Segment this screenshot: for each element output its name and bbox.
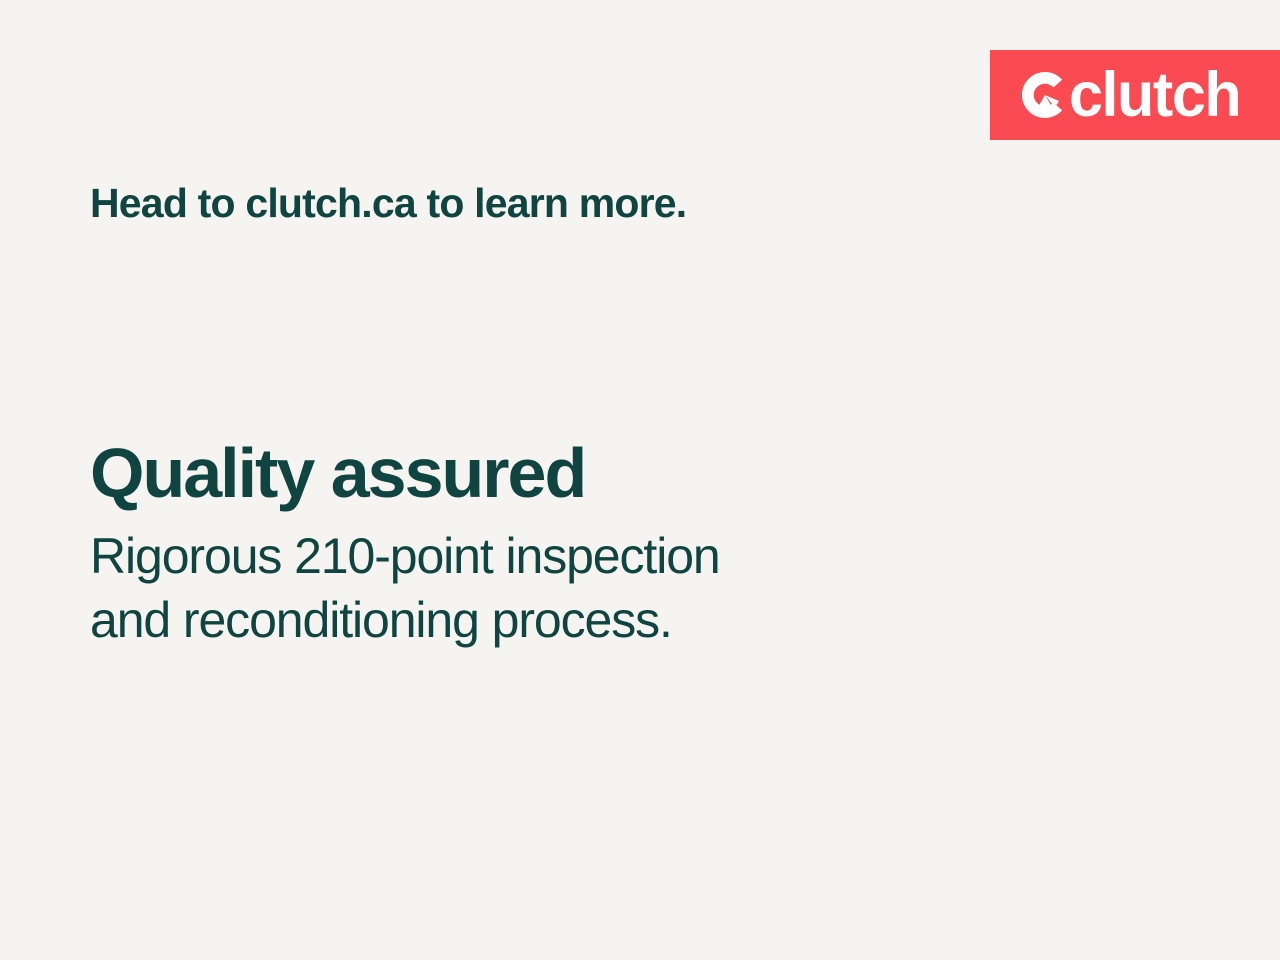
tagline: Head to clutch.ca to learn more.	[90, 180, 686, 227]
promo-slide: clutch Head to clutch.ca to learn more. …	[0, 0, 1280, 960]
clutch-c-wedge-icon	[1020, 70, 1070, 120]
subcopy: Rigorous 210-point inspection and recond…	[90, 524, 990, 652]
subcopy-line-2: and reconditioning process.	[90, 588, 990, 652]
clutch-logo[interactable]: clutch	[1020, 67, 1246, 123]
subcopy-line-1: Rigorous 210-point inspection	[90, 524, 990, 588]
headline-block: Quality assured Rigorous 210-point inspe…	[90, 436, 990, 652]
clutch-wordmark-text: clutch	[1069, 64, 1240, 127]
page-title: Quality assured	[90, 436, 990, 512]
brand-banner: clutch	[990, 50, 1280, 140]
